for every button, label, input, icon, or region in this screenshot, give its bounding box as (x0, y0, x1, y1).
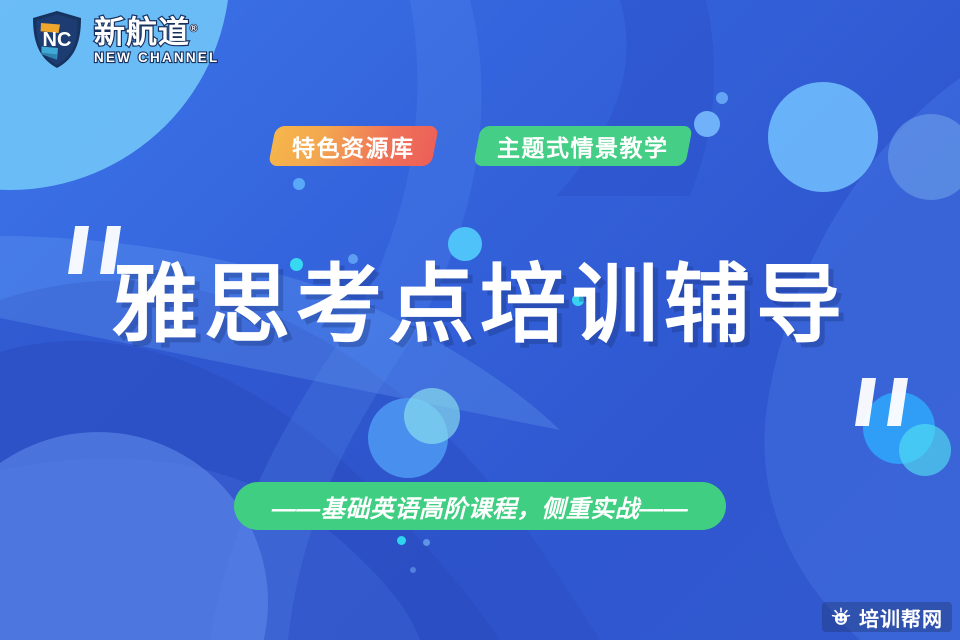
brand-name-cn-text: 新航道 (94, 15, 190, 50)
badge-scenario-teaching[interactable]: 主题式情景教学 (473, 126, 692, 166)
feature-badges: 特色资源库 主题式情景教学 (0, 126, 960, 166)
badge-resource-library[interactable]: 特色资源库 (268, 126, 438, 166)
registered-mark: ® (190, 24, 198, 35)
shield-nc-icon: NC (30, 10, 84, 70)
brand-name-cn: 新航道® (94, 17, 219, 48)
subhead-banner: ——基础英语高阶课程，侧重实战—— (0, 482, 960, 530)
svg-text:NC: NC (43, 29, 72, 51)
decor-dot (423, 539, 430, 546)
badge-resource-library-label: 特色资源库 (292, 129, 415, 163)
decor-dot (410, 567, 416, 573)
watermark-text: 培训帮网 (859, 603, 943, 632)
decor-dot (716, 92, 728, 104)
decor-circle-mid-cyan (404, 388, 460, 444)
decor-circle-quote-cyan (899, 424, 951, 476)
decor-dot (293, 178, 305, 190)
brand-logo[interactable]: NC 新航道® NEW CHANNEL (30, 10, 219, 70)
page-title-text: 雅思考点培训辅导 (112, 257, 848, 353)
subhead-text: ——基础英语高阶课程，侧重实战—— (272, 489, 689, 524)
quote-close-icon (855, 378, 908, 426)
decor-dot (397, 536, 406, 545)
page-title: 雅思考点培训辅导 (0, 262, 960, 348)
badge-scenario-teaching-label: 主题式情景教学 (497, 129, 669, 163)
watermark: 培训帮网 (822, 602, 952, 632)
subhead-pill[interactable]: ——基础英语高阶课程，侧重实战—— (234, 482, 727, 530)
promo-banner: NC 新航道® NEW CHANNEL 特色资源库 主题式情景教学 雅思考点培训… (0, 0, 960, 640)
decor-dot (448, 227, 482, 261)
brand-name-en: NEW CHANNEL (94, 51, 219, 65)
smiley-face-icon (830, 606, 852, 628)
